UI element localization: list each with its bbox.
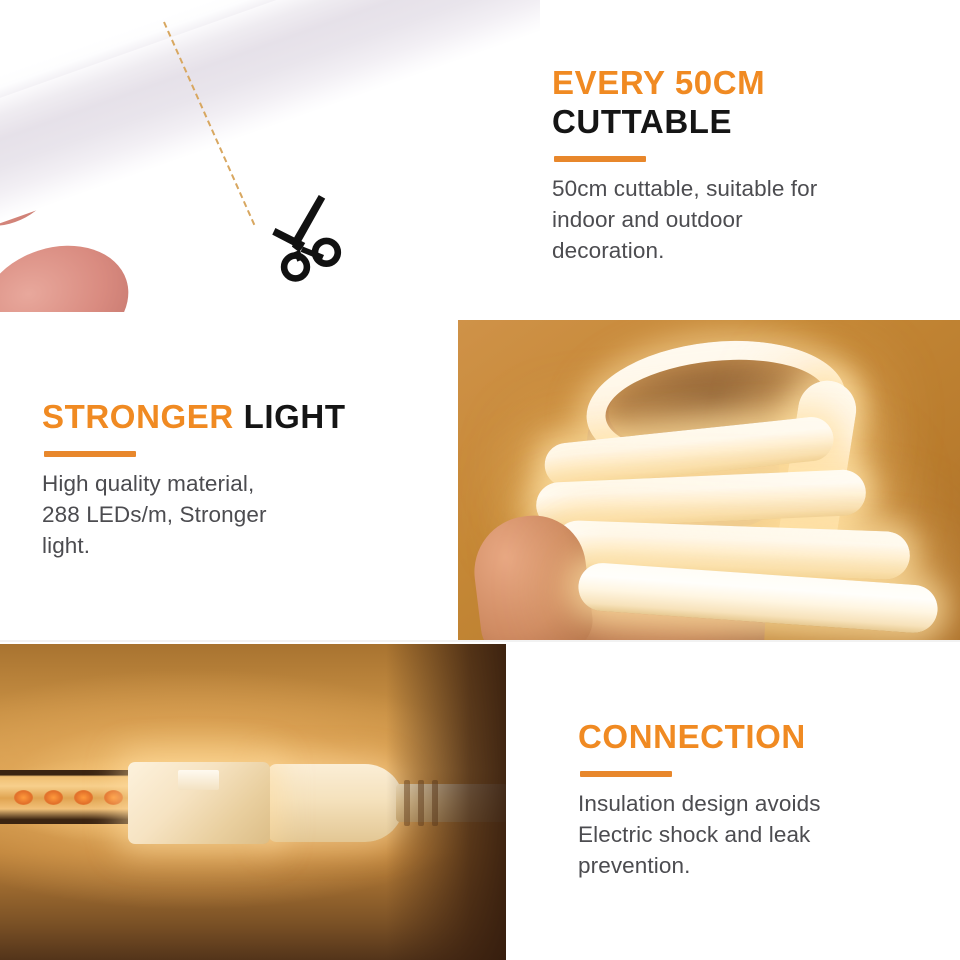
infographic-page: EVERY 50CM CUTTABLE 50cm cuttable, suita… — [0, 0, 960, 960]
led-dot — [74, 790, 93, 805]
connection-accent-bar — [580, 771, 672, 777]
stronger-light-body-text: High quality material, 288 LEDs/m, Stron… — [42, 468, 346, 561]
feature-panel-connection: CONNECTION Insulation design avoids Elec… — [0, 642, 960, 960]
feature-panel-stronger-light: STRONGER LIGHT High quality material, 28… — [0, 312, 960, 642]
cuttable-text-block: EVERY 50CM CUTTABLE 50cm cuttable, suita… — [552, 64, 817, 266]
led-dot — [44, 790, 63, 805]
stronger-light-photo — [458, 320, 960, 642]
connection-headline-orange: CONNECTION — [578, 718, 806, 755]
cuttable-accent-bar — [554, 156, 646, 162]
finger-lower — [0, 228, 143, 312]
connector-strain-relief — [268, 764, 404, 842]
stronger-light-headline: STRONGER LIGHT — [42, 398, 346, 437]
stronger-light-headline-orange: STRONGER — [42, 398, 234, 435]
stronger-light-accent-bar — [44, 451, 136, 457]
stronger-light-text-block: STRONGER LIGHT High quality material, 28… — [42, 398, 346, 561]
stronger-light-headline-dark: LIGHT — [244, 398, 346, 435]
cuttable-headline-dark: CUTTABLE — [552, 103, 732, 140]
connection-photo — [0, 644, 506, 960]
cuttable-photo — [0, 0, 540, 312]
cuttable-headline: EVERY 50CM CUTTABLE — [552, 64, 817, 142]
scissors-icon — [258, 186, 354, 282]
cuttable-body-text: 50cm cuttable, suitable for indoor and o… — [552, 173, 817, 266]
photo-vignette — [386, 644, 506, 960]
connection-headline: CONNECTION — [578, 718, 821, 757]
led-dot — [104, 790, 123, 805]
feature-panel-cuttable: EVERY 50CM CUTTABLE 50cm cuttable, suita… — [0, 0, 960, 312]
connector-latch-tab — [178, 770, 219, 790]
connection-body-text: Insulation design avoids Electric shock … — [578, 788, 821, 881]
led-dot — [14, 790, 33, 805]
cuttable-headline-orange: EVERY 50CM — [552, 64, 765, 101]
connection-text-block: CONNECTION Insulation design avoids Elec… — [578, 718, 821, 881]
